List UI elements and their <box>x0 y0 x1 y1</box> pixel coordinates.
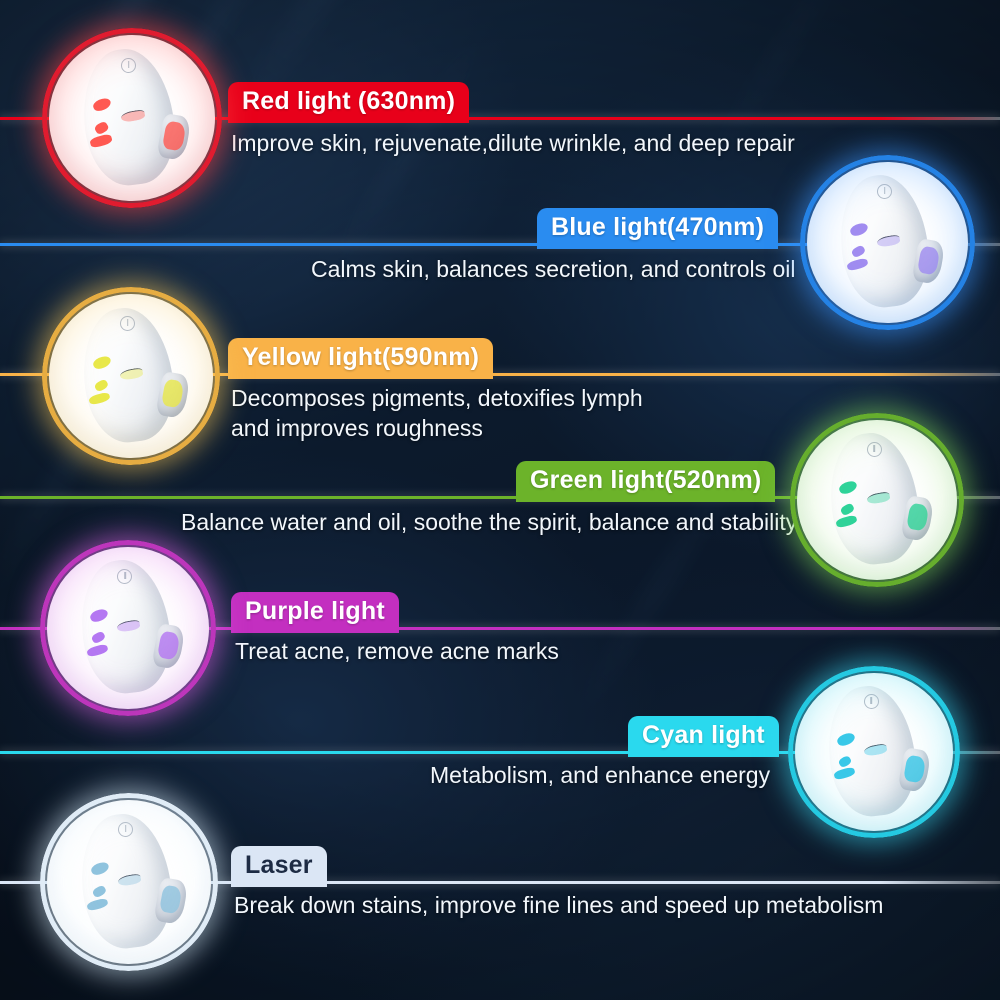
light-label-yellow[interactable]: Yellow light(590nm) <box>228 338 493 379</box>
light-label-purple[interactable]: Purple light <box>231 592 399 633</box>
led-face-mask <box>78 305 185 451</box>
light-label-laser[interactable]: Laser <box>231 846 327 887</box>
mask-photo-purple <box>40 540 216 716</box>
light-description-red: Improve skin, rejuvenate,dilute wrinkle,… <box>231 128 795 158</box>
light-label-blue[interactable]: Blue light(470nm) <box>537 208 778 249</box>
mask-photo-red <box>42 28 222 208</box>
mask-photo-cyan <box>788 666 960 838</box>
light-description-cyan: Metabolism, and enhance energy <box>430 760 770 790</box>
led-face-mask <box>825 430 929 573</box>
mask-photo-green <box>790 413 964 587</box>
light-label-red[interactable]: Red light (630nm) <box>228 82 469 123</box>
light-description-green: Balance water and oil, soothe the spirit… <box>181 507 797 537</box>
neck-led-panel <box>162 121 186 151</box>
neck-led-panel <box>157 631 181 661</box>
mask-photo-yellow <box>42 287 220 465</box>
light-description-yellow: Decomposes pigments, detoxifies lymph an… <box>231 383 643 444</box>
light-description-purple: Treat acne, remove acne marks <box>235 636 559 666</box>
led-face-mask <box>78 46 186 194</box>
led-face-mask <box>822 683 925 824</box>
light-label-green[interactable]: Green light(520nm) <box>516 461 775 502</box>
led-face-mask <box>835 173 940 317</box>
neck-led-panel <box>906 503 929 532</box>
power-icon <box>121 58 136 73</box>
power-icon <box>867 442 882 457</box>
light-label-cyan[interactable]: Cyan light <box>628 716 779 757</box>
power-icon <box>877 184 892 199</box>
neck-led-panel <box>903 755 926 784</box>
light-description-laser: Break down stains, improve fine lines an… <box>234 890 883 920</box>
light-mode-list: Red light (630nm)Improve skin, rejuvenat… <box>0 0 1000 1000</box>
mask-photo-laser <box>40 793 218 971</box>
led-face-mask <box>75 558 181 702</box>
neck-led-panel <box>161 379 185 409</box>
led-face-mask <box>76 811 183 957</box>
light-description-blue: Calms skin, balances secretion, and cont… <box>311 254 796 284</box>
neck-led-panel <box>159 885 183 915</box>
mask-photo-blue <box>800 155 975 330</box>
neck-led-panel <box>917 245 940 275</box>
